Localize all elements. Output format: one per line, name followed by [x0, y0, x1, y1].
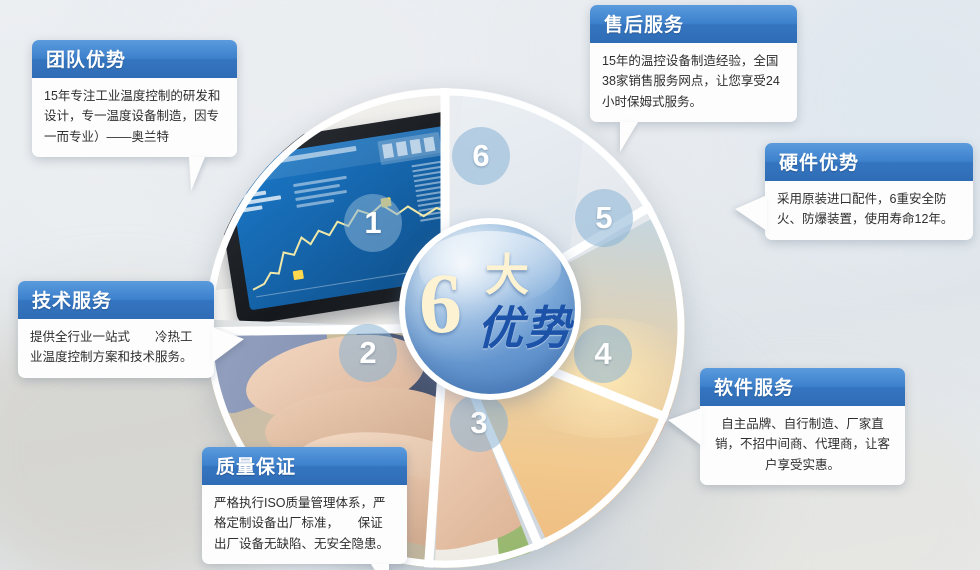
segment-number-2[interactable]: 2: [339, 324, 397, 382]
card-body-quality: 严格执行ISO质量管理体系，严格定制设备出厂标准， 保证出厂设备无缺陷、无安全隐…: [202, 485, 407, 564]
callout-card-after-sales[interactable]: 售后服务 15年的温控设备制造经验，全国38家销售服务网点，让您享受24小时保姆…: [590, 5, 797, 122]
callout-card-technical[interactable]: 技术服务 提供全行业一站式 冷热工业温度控制方案和技术服务。: [18, 281, 214, 378]
badge-script-text: 优势: [477, 306, 573, 352]
card-title-technical: 技术服务: [18, 281, 214, 319]
callout-card-quality[interactable]: 质量保证 严格执行ISO质量管理体系，严格定制设备出厂标准， 保证出厂设备无缺陷…: [202, 447, 407, 564]
card-body-hardware: 采用原装进口配件，6重安全防火、防爆装置，使用寿命12年。: [765, 181, 973, 240]
callout-tail: [371, 564, 389, 570]
callout-card-team[interactable]: 团队优势 15年专注工业温度控制的研发和设计，专一温度设备制造，因专一而专业）—…: [32, 40, 237, 157]
card-body-software: 自主品牌、自行制造、厂家直销，不招中间商、代理商，让客户享受实惠。: [700, 406, 905, 485]
segment-number-5[interactable]: 5: [575, 189, 633, 247]
card-title-quality: 质量保证: [202, 447, 407, 485]
card-body-after-sales: 15年的温控设备制造经验，全国38家销售服务网点，让您享受24小时保姆式服务。: [590, 43, 797, 122]
callout-card-hardware[interactable]: 硬件优势 采用原装进口配件，6重安全防火、防爆装置，使用寿命12年。: [765, 143, 973, 240]
card-title-team: 团队优势: [32, 40, 237, 78]
segment-number-4[interactable]: 4: [574, 325, 632, 383]
segment-number-1[interactable]: 1: [344, 194, 402, 252]
card-body-technical: 提供全行业一站式 冷热工业温度控制方案和技术服务。: [18, 319, 214, 378]
segment-number-3[interactable]: 3: [450, 394, 508, 452]
callout-tail: [620, 122, 638, 152]
badge-number: 6: [419, 260, 462, 346]
callout-tail: [668, 408, 702, 446]
callout-card-software[interactable]: 软件服务 自主品牌、自行制造、厂家直销，不招中间商、代理商，让客户享受实惠。: [700, 368, 905, 485]
callout-tail: [212, 327, 244, 363]
card-title-after-sales: 售后服务: [590, 5, 797, 43]
badge-big-char: 大: [485, 254, 529, 298]
infographic-canvas: 1 2 3 4 5 6 6 大 优势 团队优势 15年专注工业温度控制的研发和设…: [0, 0, 980, 570]
segment-number-6[interactable]: 6: [452, 127, 510, 185]
center-badge: 6 大 优势: [399, 218, 581, 400]
callout-tail: [735, 195, 767, 231]
card-title-software: 软件服务: [700, 368, 905, 406]
card-title-hardware: 硬件优势: [765, 143, 973, 181]
card-body-team: 15年专注工业温度控制的研发和设计，专一温度设备制造，因专一而专业）——奥兰特: [32, 78, 237, 157]
